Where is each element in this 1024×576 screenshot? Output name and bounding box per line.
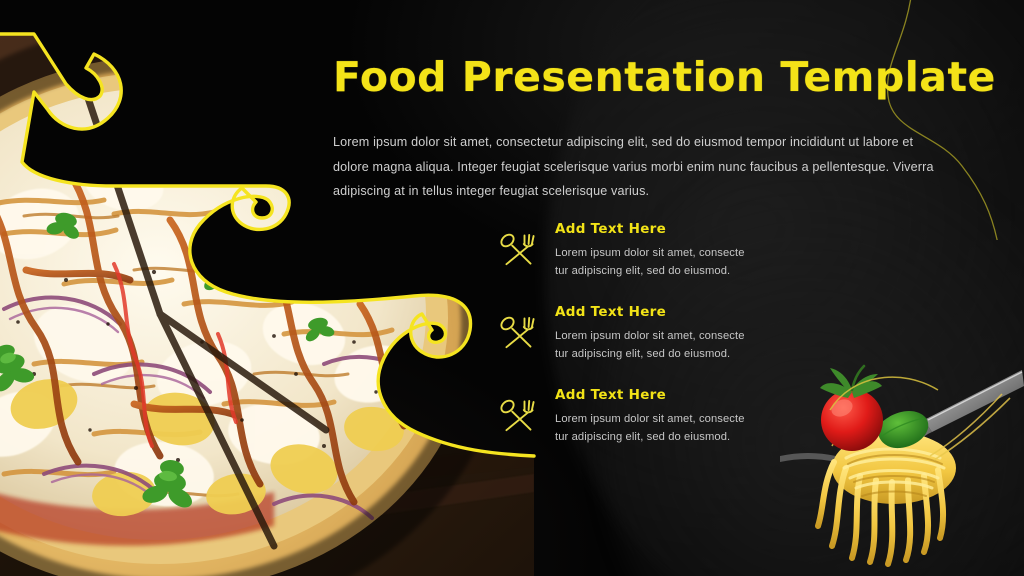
crossed-spoon-fork-icon (495, 394, 541, 440)
feature-item[interactable]: Add Text Here Lorem ipsum dolor sit amet… (495, 388, 795, 471)
feature-text: Add Text Here Lorem ipsum dolor sit amet… (555, 388, 795, 446)
crossed-spoon-fork-icon (495, 228, 541, 274)
feature-title: Add Text Here (555, 306, 795, 320)
feature-body: Lorem ipsum dolor sit amet, consecte tur… (555, 327, 751, 363)
feature-body: Lorem ipsum dolor sit amet, consecte tur… (555, 244, 751, 280)
slide-root: Food Presentation Template Lorem ipsum d… (0, 0, 1024, 576)
feature-text: Add Text Here Lorem ipsum dolor sit amet… (555, 222, 795, 280)
spaghetti-image-block (774, 356, 1024, 576)
spaghetti-fork-photo (774, 356, 1024, 576)
page-title: Food Presentation Template (333, 54, 933, 101)
feature-text: Add Text Here Lorem ipsum dolor sit amet… (555, 305, 795, 363)
feature-item[interactable]: Add Text Here Lorem ipsum dolor sit amet… (495, 222, 795, 305)
feature-list: Add Text Here Lorem ipsum dolor sit amet… (495, 222, 795, 471)
feature-body: Lorem ipsum dolor sit amet, consecte tur… (555, 410, 751, 446)
feature-title: Add Text Here (555, 389, 795, 403)
intro-paragraph: Lorem ipsum dolor sit amet, consectetur … (333, 130, 938, 204)
crossed-spoon-fork-icon (495, 311, 541, 357)
feature-item[interactable]: Add Text Here Lorem ipsum dolor sit amet… (495, 305, 795, 388)
feature-title: Add Text Here (555, 223, 795, 237)
